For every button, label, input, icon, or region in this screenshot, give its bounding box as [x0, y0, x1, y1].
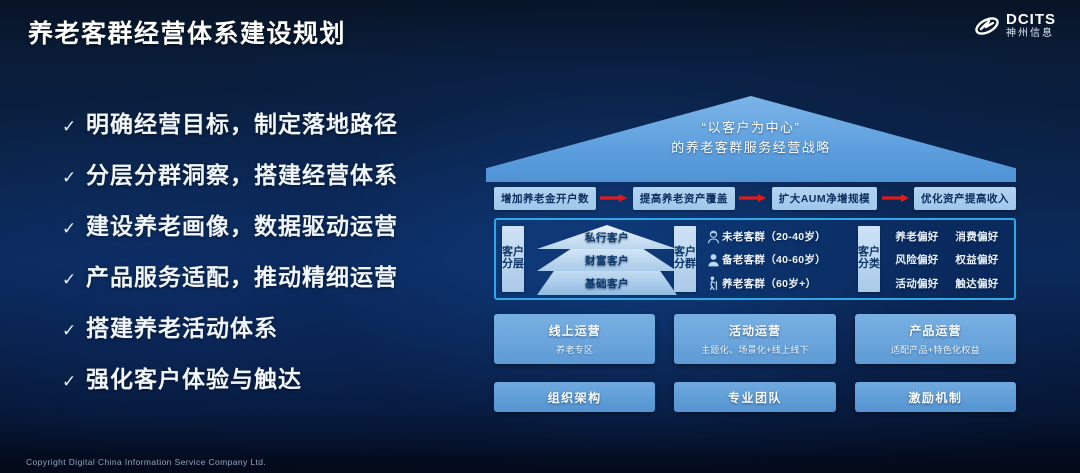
pyramid-level-top: 私行客户	[537, 225, 677, 249]
classification-item: 消费偏好	[955, 229, 998, 244]
segment-classification: 客户分类 养老偏好 消费偏好 风险偏好 权益偏好 活动偏好 触达偏好	[857, 225, 1009, 293]
strategy-roof: “以客户为中心” 的养老客群服务经营战略	[486, 96, 1016, 182]
classification-item: 触达偏好	[955, 276, 998, 291]
check-icon: ✓	[62, 321, 86, 341]
check-icon: ✓	[62, 219, 86, 239]
check-icon: ✓	[62, 372, 86, 392]
operations-card-title: 活动运营	[729, 322, 781, 339]
classification-item: 权益偏好	[955, 252, 998, 267]
bullet-item-1: ✓ 明确经营目标，制定落地路径	[62, 105, 462, 139]
bullet-text: 明确经营目标，制定落地路径	[86, 105, 398, 139]
roof-line-1: “以客户为中心”	[486, 118, 1016, 138]
arrow-right-icon	[596, 193, 633, 203]
segment-group: 客户分群 未老客群（20-40岁）	[673, 225, 857, 293]
segment-group-body: 未老客群（20-40岁） 备老客群（40-60岁）	[701, 225, 857, 293]
bullet-item-6: ✓ 强化客户体验与触达	[62, 360, 462, 394]
company-logo: DCITS 神州信息	[974, 12, 1056, 39]
foundation-card-label: 专业团队	[728, 389, 782, 406]
foundation-card-incentive[interactable]: 激励机制	[855, 382, 1016, 412]
pyramid-level-label: 基础客户	[585, 276, 629, 291]
arrow-right-icon	[735, 193, 772, 203]
kpi-box-2[interactable]: 提高养老资产覆盖	[633, 187, 735, 210]
slide-header: 养老客群经营体系建设规划 DCITS 神州信息	[0, 0, 1080, 58]
young-person-icon	[705, 230, 722, 244]
check-icon: ✓	[62, 168, 86, 188]
bullet-text: 产品服务适配，推动精细运营	[86, 258, 398, 292]
bullet-list: ✓ 明确经营目标，制定落地路径 ✓ 分层分群洞察，搭建经营体系 ✓ 建设养老画像…	[62, 105, 462, 411]
operations-card-product[interactable]: 产品运营 适配产品+特色化权益	[855, 314, 1016, 364]
operations-row: 线上运营 养老专区 活动运营 主题化、场景化+线上线下 产品运营 适配产品+特色…	[494, 314, 1016, 364]
segment-tier: 客户分层 私行客户 财富客户 基础客户	[501, 225, 673, 293]
copyright-text: Copyright Digital China Information Serv…	[26, 457, 266, 467]
operations-card-subtitle: 养老专区	[556, 343, 593, 356]
kpi-box-1[interactable]: 增加养老金开户数	[494, 187, 596, 210]
adult-person-icon	[705, 253, 722, 267]
operations-card-title: 产品运营	[909, 322, 961, 339]
classification-grid: 养老偏好 消费偏好 风险偏好 权益偏好 活动偏好 触达偏好	[885, 225, 1009, 295]
foundation-row: 组织架构 专业团队 激励机制	[494, 382, 1016, 412]
classification-item: 活动偏好	[895, 276, 938, 291]
foundation-card-team[interactable]: 专业团队	[674, 382, 835, 412]
group-row-label: 未老客群（20-40岁）	[722, 229, 826, 244]
pyramid-level-label: 私行客户	[585, 230, 629, 245]
arrow-right-icon	[877, 193, 914, 203]
segment-classification-label: 客户分类	[858, 226, 880, 292]
segment-classification-body: 养老偏好 消费偏好 风险偏好 权益偏好 活动偏好 触达偏好	[885, 225, 1009, 293]
bullet-text: 强化客户体验与触达	[86, 360, 302, 394]
pyramid-level-label: 财富客户	[585, 253, 629, 268]
roof-text: “以客户为中心” 的养老客群服务经营战略	[486, 118, 1016, 158]
group-row-2: 备老客群（40-60岁）	[701, 248, 857, 271]
kpi-box-4[interactable]: 优化资产提高收入	[914, 187, 1016, 210]
bullet-text: 分层分群洞察，搭建经营体系	[86, 156, 398, 190]
foundation-card-org[interactable]: 组织架构	[494, 382, 655, 412]
group-row-3: 养老客群（60岁+）	[701, 272, 857, 295]
elderly-person-icon	[705, 276, 722, 290]
operations-card-online[interactable]: 线上运营 养老专区	[494, 314, 655, 364]
foundation-card-label: 激励机制	[908, 389, 962, 406]
page-title: 养老客群经营体系建设规划	[28, 14, 346, 50]
segment-tier-body: 私行客户 财富客户 基础客户	[529, 225, 673, 293]
swoosh-icon	[974, 13, 1000, 39]
classification-item: 养老偏好	[895, 229, 938, 244]
bullet-text: 搭建养老活动体系	[86, 309, 278, 343]
segment-tier-label: 客户分层	[502, 226, 524, 292]
kpi-box-3[interactable]: 扩大AUM净增规模	[772, 187, 877, 210]
pyramid-level-base: 基础客户	[537, 271, 677, 295]
roof-line-2: 的养老客群服务经营战略	[486, 138, 1016, 158]
strategy-diagram: “以客户为中心” 的养老客群服务经营战略 增加养老金开户数 提高养老资产覆盖 扩…	[486, 96, 1026, 436]
group-row-1: 未老客群（20-40岁）	[701, 225, 857, 248]
bullet-item-4: ✓ 产品服务适配，推动精细运营	[62, 258, 462, 292]
tier-pyramid: 私行客户 财富客户 基础客户	[537, 225, 677, 295]
check-icon: ✓	[62, 270, 86, 290]
operations-card-title: 线上运营	[549, 322, 601, 339]
logo-text-cn: 神州信息	[1006, 29, 1056, 39]
pyramid-level-middle: 财富客户	[537, 249, 677, 271]
operations-card-subtitle: 适配产品+特色化权益	[891, 343, 980, 356]
segment-group-label: 客户分群	[674, 226, 696, 292]
check-icon: ✓	[62, 117, 86, 137]
classification-item: 风险偏好	[895, 252, 938, 267]
bullet-text: 建设养老画像，数据驱动运营	[86, 207, 398, 241]
group-row-label: 备老客群（40-60岁）	[722, 252, 826, 267]
logo-wordmark: DCITS 神州信息	[1006, 12, 1056, 39]
bullet-item-3: ✓ 建设养老画像，数据驱动运营	[62, 207, 462, 241]
logo-text-en: DCITS	[1006, 12, 1056, 27]
operations-card-subtitle: 主题化、场景化+线上线下	[701, 343, 809, 356]
operations-card-activity[interactable]: 活动运营 主题化、场景化+线上线下	[674, 314, 835, 364]
kpi-row: 增加养老金开户数 提高养老资产覆盖 扩大AUM净增规模 优化资产提高收入	[494, 186, 1016, 210]
bullet-item-5: ✓ 搭建养老活动体系	[62, 309, 462, 343]
customer-segmentation-panel: 客户分层 私行客户 财富客户 基础客户	[494, 218, 1016, 300]
foundation-card-label: 组织架构	[548, 389, 602, 406]
group-row-label: 养老客群（60岁+）	[722, 276, 816, 291]
bullet-item-2: ✓ 分层分群洞察，搭建经营体系	[62, 156, 462, 190]
slide-footer: Copyright Digital China Information Serv…	[0, 449, 1080, 473]
